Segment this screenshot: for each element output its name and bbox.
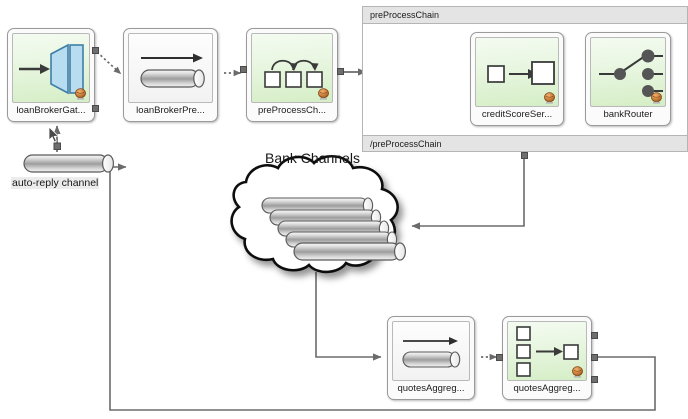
node-label: loanBrokerPre... <box>136 105 205 116</box>
anchor-quotesaggregator-right-top[interactable] <box>591 332 598 339</box>
gateway-icon <box>12 33 90 103</box>
bean-badge-icon <box>571 366 584 379</box>
node-preprocesschain[interactable]: preProcessCh... <box>246 28 338 122</box>
node-label: quotesAggreg... <box>397 383 464 394</box>
anchor-quotesaggregator-right-mid[interactable] <box>591 354 598 361</box>
auto-reply-channel-pipe <box>24 155 113 172</box>
router-icon <box>590 37 666 107</box>
node-quotesaggregator-channel[interactable]: quotesAggreg... <box>387 316 475 400</box>
node-loanbrokerpre[interactable]: loanBrokerPre... <box>123 28 218 122</box>
conn-gateway-to-loanbrokerpre <box>97 52 121 74</box>
node-quotesaggregator[interactable]: quotesAggreg... <box>502 316 592 400</box>
bean-badge-icon <box>543 92 556 105</box>
node-loanbrokergateway[interactable]: loanBrokerGat... <box>7 28 95 122</box>
bean-badge-icon <box>74 88 87 101</box>
anchor-quotesaggregator-left[interactable] <box>496 354 503 361</box>
chain-icon <box>251 33 333 103</box>
node-creditscoreservice[interactable]: creditScoreSer... <box>470 32 564 126</box>
conn-cloud-to-quotesaggregator-channel <box>316 272 381 357</box>
bean-badge-icon <box>317 88 330 101</box>
cloud-pipe-stack <box>262 198 405 260</box>
anchor-gateway-right-bottom[interactable] <box>92 105 99 112</box>
node-bankrouter[interactable]: bankRouter <box>585 32 671 126</box>
aggregator-icon <box>507 321 587 381</box>
node-label: loanBrokerGat... <box>16 105 85 116</box>
auto-reply-channel-label: auto-reply channel <box>11 177 99 189</box>
anchor-quotesaggregator-right-bottom[interactable] <box>591 376 598 383</box>
anchor-preprocesschain-left[interactable] <box>240 66 247 73</box>
route-diagram-canvas[interactable]: preProcessChain /preProcessChain loanBro… <box>0 0 688 419</box>
node-label: preProcessCh... <box>258 105 326 116</box>
anchor-preprocesschain-right[interactable] <box>337 68 344 75</box>
anchor-gateway-right-top[interactable] <box>92 47 99 54</box>
group-footer-label: /preProcessChain <box>363 135 687 151</box>
anchor-group-bottom[interactable] <box>521 152 528 159</box>
conn-group-to-cloud <box>412 159 524 226</box>
bank-channels-cloud <box>232 156 398 272</box>
bean-badge-icon <box>650 92 663 105</box>
translator-icon <box>475 37 559 107</box>
group-header-label: preProcessChain <box>363 7 687 24</box>
node-label: creditScoreSer... <box>482 109 552 120</box>
node-label: bankRouter <box>603 109 652 120</box>
pipe-arrow-icon <box>392 321 470 381</box>
pipe-arrow-icon <box>128 33 213 103</box>
cloud-title-bank-channels: Bank Channels <box>265 150 360 166</box>
node-label: quotesAggreg... <box>513 383 580 394</box>
mouse-cursor-icon <box>48 126 60 144</box>
